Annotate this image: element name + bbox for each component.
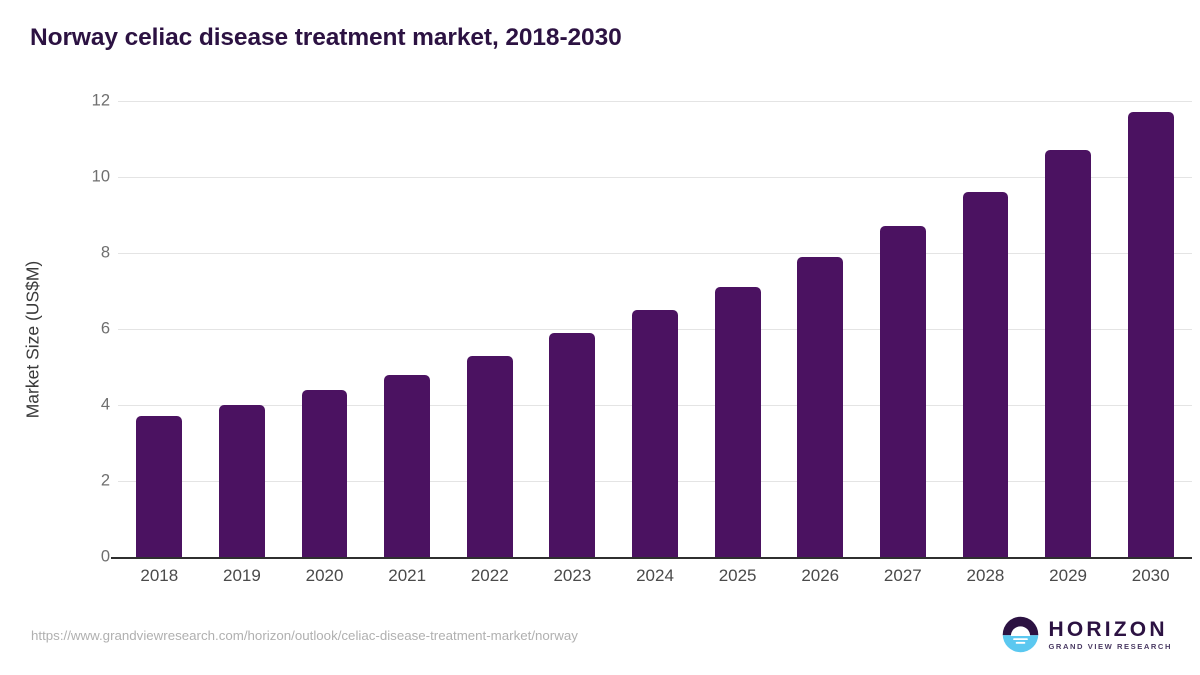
bar-slot — [136, 101, 182, 557]
x-axis-tick-label: 2028 — [944, 566, 1027, 586]
bar[interactable] — [715, 287, 761, 557]
x-axis-tick-label: 2018 — [118, 566, 201, 586]
bar-slot — [1045, 101, 1091, 557]
bar[interactable] — [963, 192, 1009, 557]
bar[interactable] — [384, 375, 430, 557]
bar-slot — [467, 101, 513, 557]
bar-series — [118, 101, 1192, 557]
y-axis-tick-label: 6 — [58, 320, 110, 339]
bar[interactable] — [219, 405, 265, 557]
bar-slot — [715, 101, 761, 557]
bar[interactable] — [797, 257, 843, 557]
source-url[interactable]: https://www.grandviewresearch.com/horizo… — [31, 628, 578, 643]
x-axis-tick-label: 2020 — [283, 566, 366, 586]
y-axis-tick-label: 2 — [58, 472, 110, 491]
bar[interactable] — [136, 416, 182, 557]
bar-slot — [880, 101, 926, 557]
bar[interactable] — [549, 333, 595, 557]
bar-slot — [549, 101, 595, 557]
x-axis-tick-label: 2025 — [696, 566, 779, 586]
bar-slot — [302, 101, 348, 557]
bar[interactable] — [1128, 112, 1174, 557]
logo-subtitle: GRAND VIEW RESEARCH — [1048, 643, 1172, 651]
x-axis-tick-label: 2023 — [531, 566, 614, 586]
y-axis-title: Market Size (US$M) — [23, 140, 44, 540]
x-axis-tick-labels: 2018201920202021202220232024202520262027… — [118, 566, 1192, 596]
bar[interactable] — [880, 226, 926, 557]
y-axis-tick-label: 8 — [58, 244, 110, 263]
y-axis-tick-label: 4 — [58, 396, 110, 415]
x-axis-tick-label: 2027 — [862, 566, 945, 586]
bar[interactable] — [1045, 150, 1091, 557]
x-axis-line — [111, 557, 1192, 559]
x-axis-tick-label: 2019 — [201, 566, 284, 586]
bar-slot — [219, 101, 265, 557]
bar-slot — [797, 101, 843, 557]
bar[interactable] — [467, 356, 513, 557]
bar-slot — [384, 101, 430, 557]
y-axis-tick-label: 0 — [58, 548, 110, 567]
chart-screenshot: Norway celiac disease treatment market, … — [0, 0, 1200, 675]
logo-text: HORIZON GRAND VIEW RESEARCH — [1048, 619, 1172, 651]
bar-slot — [1128, 101, 1174, 557]
bar[interactable] — [632, 310, 678, 557]
plot-area: Market Size (US$M) 024681012 20182019202… — [0, 0, 1200, 675]
brand-logo[interactable]: HORIZON GRAND VIEW RESEARCH — [1002, 616, 1172, 653]
x-axis-tick-label: 2026 — [779, 566, 862, 586]
y-axis-tick-label: 10 — [58, 168, 110, 187]
logo-title: HORIZON — [1048, 619, 1172, 640]
bar[interactable] — [302, 390, 348, 557]
x-axis-tick-label: 2029 — [1027, 566, 1110, 586]
x-axis-tick-label: 2022 — [448, 566, 531, 586]
y-axis-tick-labels: 024681012 — [58, 0, 110, 675]
bar-slot — [963, 101, 1009, 557]
x-axis-tick-label: 2021 — [366, 566, 449, 586]
bar-slot — [632, 101, 678, 557]
y-axis-tick-label: 12 — [58, 92, 110, 111]
horizon-sunrise-circle-icon — [1002, 616, 1039, 653]
x-axis-tick-label: 2030 — [1109, 566, 1192, 586]
x-axis-tick-label: 2024 — [614, 566, 697, 586]
